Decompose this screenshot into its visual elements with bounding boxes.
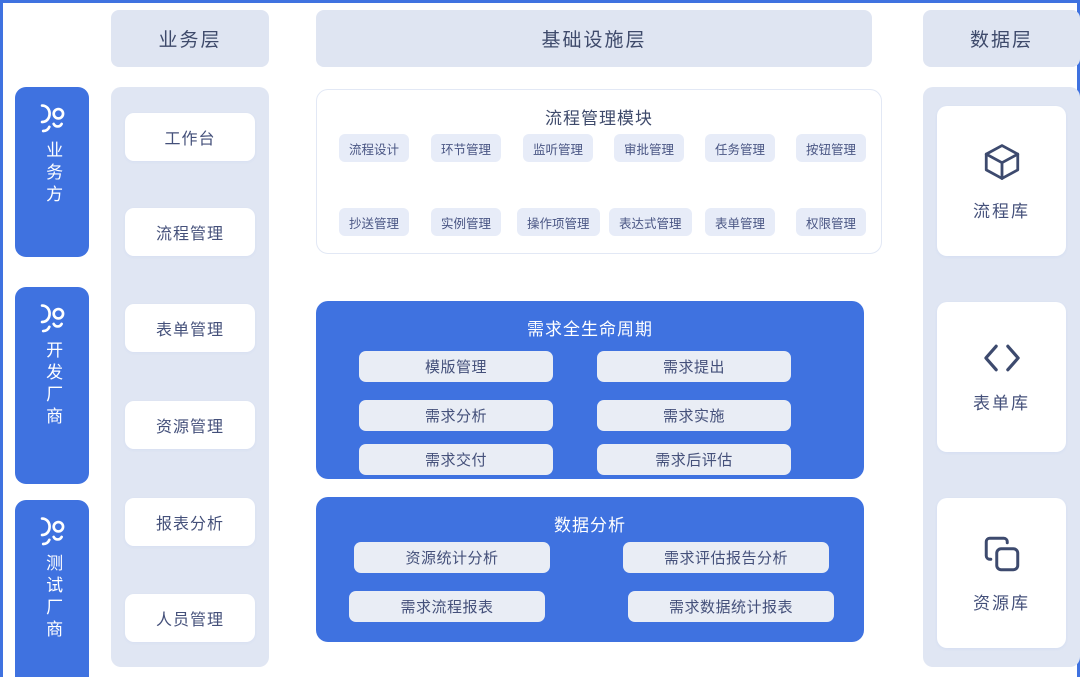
chip-label: 抄送管理 xyxy=(349,213,399,232)
chip-label: 权限管理 xyxy=(806,213,856,232)
lifecycle-item-post-requirement-evaluation[interactable]: 需求后评估 xyxy=(597,444,791,475)
chip-label: 监听管理 xyxy=(533,139,583,158)
role-card-business[interactable]: 业务方 xyxy=(15,87,89,257)
business-item-label: 工作台 xyxy=(164,125,215,149)
data-card-label: 资源库 xyxy=(973,589,1030,614)
data-card-resource-library[interactable]: 资源库 xyxy=(937,498,1066,648)
chip-listener-management[interactable]: 监听管理 xyxy=(523,134,593,162)
analysis-item-resource-statistics[interactable]: 资源统计分析 xyxy=(354,542,550,573)
column-header-business: 业务层 xyxy=(111,10,269,67)
chip-label: 任务管理 xyxy=(715,139,765,158)
lifecycle-item-requirement-implementation[interactable]: 需求实施 xyxy=(597,400,791,431)
lifecycle-item-requirement-analysis[interactable]: 需求分析 xyxy=(359,400,553,431)
chip-operation-item-management[interactable]: 操作项管理 xyxy=(517,208,600,236)
pill-label: 需求分析 xyxy=(425,405,487,426)
business-item-report-analysis[interactable]: 报表分析 xyxy=(125,498,255,546)
analysis-item-evaluation-report[interactable]: 需求评估报告分析 xyxy=(623,542,829,573)
requirement-lifecycle-panel: 需求全生命周期 模版管理 需求提出 需求分析 需求实施 需求交付 需求后评估 xyxy=(316,301,864,479)
pill-label: 需求流程报表 xyxy=(400,596,493,617)
chip-form-management[interactable]: 表单管理 xyxy=(705,208,775,236)
business-item-label: 报表分析 xyxy=(156,510,224,534)
role-rail: 业务方 开发厂商 测试厂商 xyxy=(15,87,89,667)
chip-button-management[interactable]: 按钮管理 xyxy=(796,134,866,162)
chip-label: 操作项管理 xyxy=(527,213,590,232)
users-group-icon xyxy=(35,301,69,335)
flow-module-title: 流程管理模块 xyxy=(317,104,881,129)
role-label: 开发厂商 xyxy=(43,341,61,429)
business-item-personnel-management[interactable]: 人员管理 xyxy=(125,594,255,642)
pill-label: 模版管理 xyxy=(425,356,487,377)
data-card-label: 流程库 xyxy=(973,197,1030,222)
role-card-tester[interactable]: 测试厂商 xyxy=(15,500,89,677)
business-item-label: 流程管理 xyxy=(156,220,224,244)
chip-cc-management[interactable]: 抄送管理 xyxy=(339,208,409,236)
business-item-process-management[interactable]: 流程管理 xyxy=(125,208,255,256)
business-item-form-management[interactable]: 表单管理 xyxy=(125,304,255,352)
pill-label: 需求评估报告分析 xyxy=(664,547,788,568)
users-group-icon xyxy=(35,101,69,135)
users-group-icon xyxy=(35,514,69,548)
chip-label: 环节管理 xyxy=(441,139,491,158)
business-item-label: 人员管理 xyxy=(156,606,224,630)
cube-icon xyxy=(981,141,1023,183)
pill-label: 需求交付 xyxy=(425,449,487,470)
chip-approval-management[interactable]: 审批管理 xyxy=(614,134,684,162)
chip-label: 流程设计 xyxy=(349,139,399,158)
pill-label: 需求数据统计报表 xyxy=(669,596,793,617)
data-layer-panel: 流程库 表单库 资源库 xyxy=(923,87,1080,667)
chip-permission-management[interactable]: 权限管理 xyxy=(796,208,866,236)
chip-task-management[interactable]: 任务管理 xyxy=(705,134,775,162)
pill-label: 需求提出 xyxy=(663,356,725,377)
lifecycle-item-template-management[interactable]: 模版管理 xyxy=(359,351,553,382)
role-card-developer[interactable]: 开发厂商 xyxy=(15,287,89,484)
business-layer-panel: 工作台 流程管理 表单管理 资源管理 报表分析 人员管理 xyxy=(111,87,269,667)
business-item-workbench[interactable]: 工作台 xyxy=(125,113,255,161)
data-analysis-panel: 数据分析 资源统计分析 需求评估报告分析 需求流程报表 需求数据统计报表 xyxy=(316,497,864,642)
chip-label: 表达式管理 xyxy=(619,213,682,232)
analysis-item-requirement-data-report[interactable]: 需求数据统计报表 xyxy=(628,591,834,622)
chip-label: 审批管理 xyxy=(624,139,674,158)
business-item-label: 表单管理 xyxy=(156,316,224,340)
chip-label: 实例管理 xyxy=(441,213,491,232)
business-item-resource-management[interactable]: 资源管理 xyxy=(125,401,255,449)
data-card-form-library[interactable]: 表单库 xyxy=(937,302,1066,452)
column-header-infrastructure: 基础设施层 xyxy=(316,10,872,67)
role-label: 测试厂商 xyxy=(43,554,61,642)
chip-expression-management[interactable]: 表达式管理 xyxy=(609,208,692,236)
pill-label: 需求实施 xyxy=(663,405,725,426)
chip-instance-management[interactable]: 实例管理 xyxy=(431,208,501,236)
chip-node-management[interactable]: 环节管理 xyxy=(431,134,501,162)
analysis-item-requirement-process-report[interactable]: 需求流程报表 xyxy=(349,591,545,622)
copy-squares-icon xyxy=(981,533,1023,575)
lifecycle-item-requirement-proposal[interactable]: 需求提出 xyxy=(597,351,791,382)
column-header-data: 数据层 xyxy=(923,10,1080,67)
chip-label: 表单管理 xyxy=(715,213,765,232)
code-brackets-icon xyxy=(980,341,1024,375)
data-card-label: 表单库 xyxy=(973,389,1030,414)
lifecycle-item-requirement-delivery[interactable]: 需求交付 xyxy=(359,444,553,475)
architecture-diagram: 业务方 开发厂商 测试厂商 xyxy=(0,0,1080,677)
role-label: 业务方 xyxy=(43,141,61,207)
chip-flow-design[interactable]: 流程设计 xyxy=(339,134,409,162)
pill-label: 资源统计分析 xyxy=(405,547,498,568)
pill-label: 需求后评估 xyxy=(655,449,733,470)
lifecycle-panel-title: 需求全生命周期 xyxy=(316,315,864,340)
business-item-label: 资源管理 xyxy=(156,413,224,437)
data-card-process-library[interactable]: 流程库 xyxy=(937,106,1066,256)
analysis-panel-title: 数据分析 xyxy=(316,511,864,536)
chip-label: 按钮管理 xyxy=(806,139,856,158)
flow-management-module-card: 流程管理模块 流程设计 环节管理 监听管理 审批管理 任务管理 按钮管理 抄送管… xyxy=(316,89,882,254)
